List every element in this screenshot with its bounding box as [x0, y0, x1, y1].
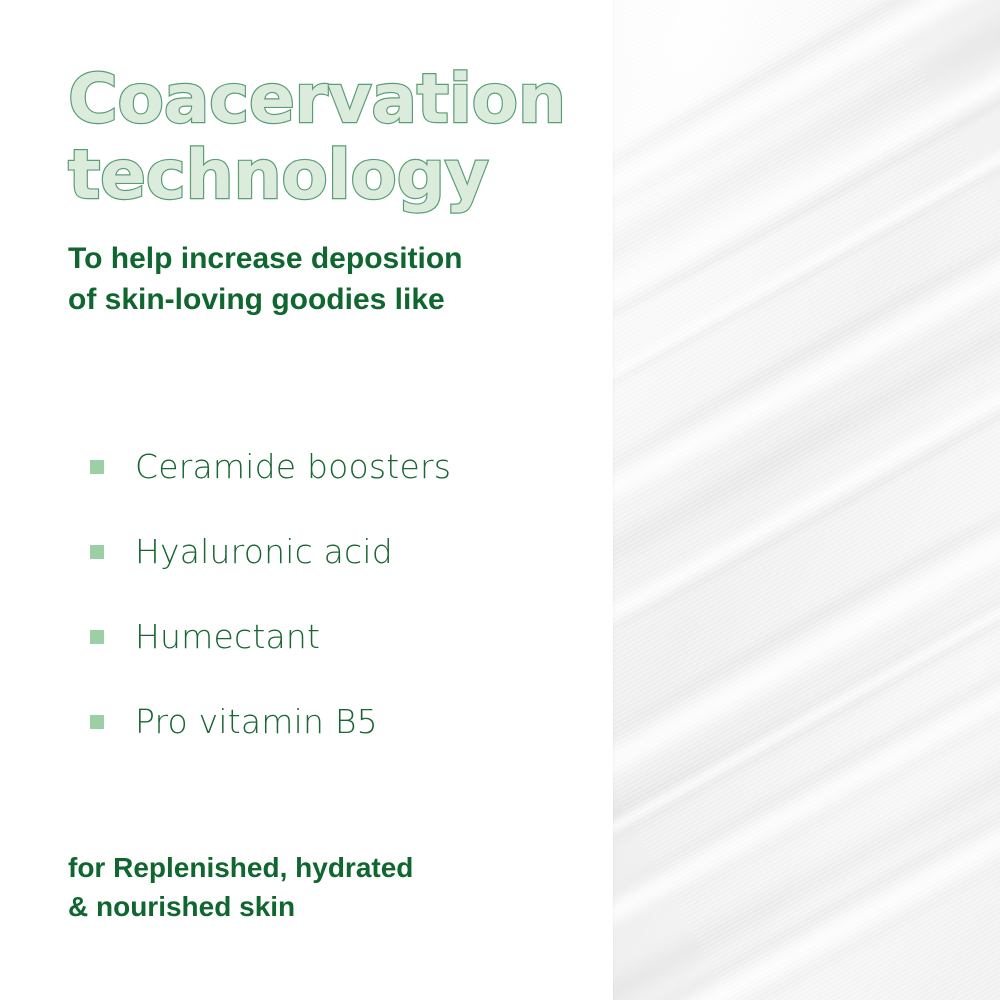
list-item-label: Humectant: [135, 619, 320, 655]
square-bullet-icon: [90, 715, 104, 729]
content-panel: Coacervation technology To help increase…: [0, 0, 613, 1000]
cream-texture-panel: [613, 0, 1000, 1000]
list-item: Humectant: [90, 594, 590, 679]
list-item: Pro vitamin B5: [90, 679, 590, 764]
panel-divider: [613, 0, 615, 1000]
page-title: Coacervation technology: [68, 62, 608, 214]
texture-grain-layer: [613, 0, 1000, 1000]
list-item: Hyaluronic acid: [90, 509, 590, 594]
benefits-list: Ceramide boosters Hyaluronic acid Humect…: [90, 424, 590, 764]
square-bullet-icon: [90, 630, 104, 644]
square-bullet-icon: [90, 460, 104, 474]
footer-statement: for Replenished, hydrated & nourished sk…: [68, 848, 588, 926]
list-item-label: Hyaluronic acid: [135, 534, 393, 570]
list-item-label: Ceramide boosters: [135, 449, 451, 485]
subtitle-text: To help increase deposition of skin-lovi…: [68, 238, 588, 320]
list-item-label: Pro vitamin B5: [135, 704, 378, 740]
product-infographic-poster: Coacervation technology To help increase…: [0, 0, 1000, 1000]
square-bullet-icon: [90, 545, 104, 559]
list-item: Ceramide boosters: [90, 424, 590, 509]
